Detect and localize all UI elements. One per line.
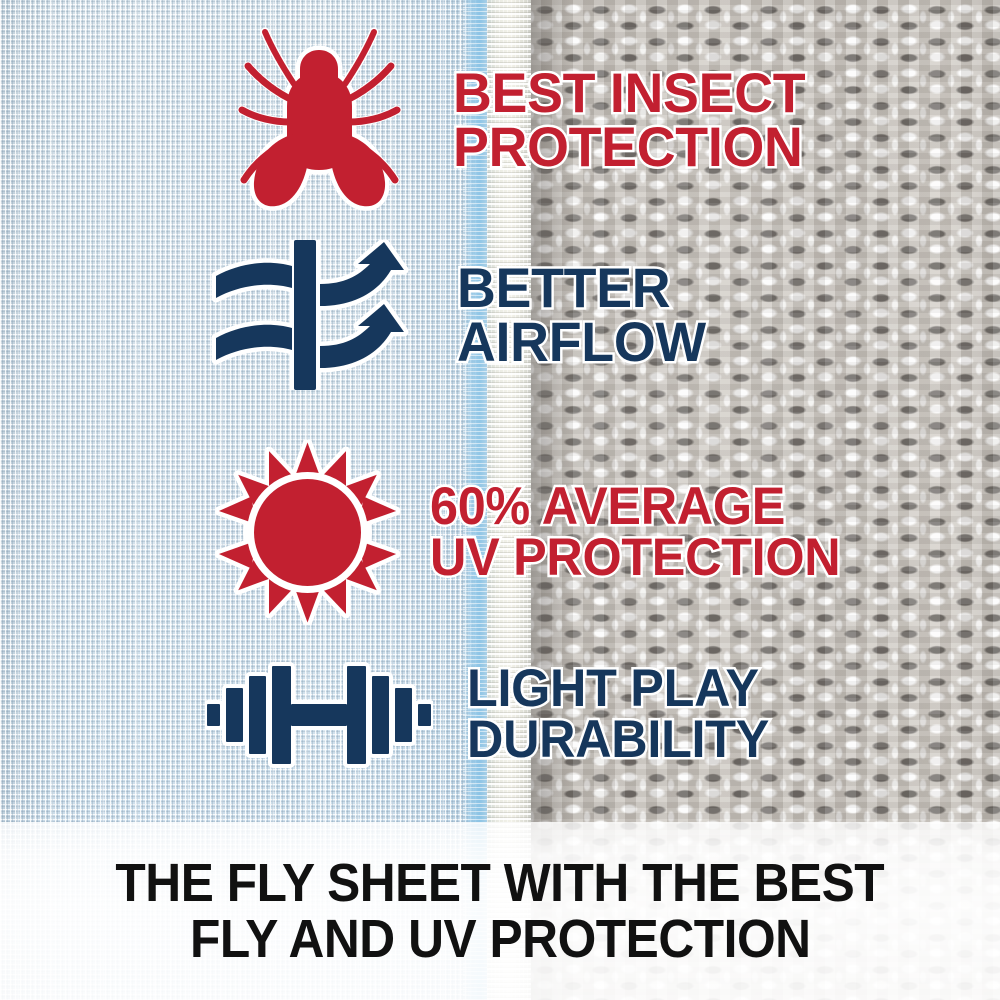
feature-durability: LIGHT PLAY DURABILITY — [205, 660, 785, 770]
banner-line-2: FLY AND UV PROTECTION — [190, 911, 811, 967]
airflow-arrows-icon — [208, 240, 423, 390]
feature-insect-label: BEST INSECT PROTECTION — [453, 66, 805, 174]
dumbbell-icon-wrap — [205, 660, 433, 770]
feature-airflow: BETTER AIRFLOW — [208, 240, 716, 390]
feature-airflow-label: BETTER AIRFLOW — [457, 261, 706, 369]
fly-icon — [232, 22, 407, 217]
product-feature-infographic: BEST INSECT PROTECTION — [0, 0, 1000, 1000]
feature-durability-label: LIGHT PLAY DURABILITY — [467, 664, 769, 766]
banner-line-1: THE FLY SHEET WITH THE BEST — [116, 855, 885, 911]
sun-icon-wrap — [215, 440, 400, 625]
sun-icon — [215, 440, 400, 625]
feature-uv: 60% AVERAGE UV PROTECTION — [215, 440, 862, 625]
bottom-banner: THE FLY SHEET WITH THE BEST FLY AND UV P… — [0, 822, 1000, 1000]
feature-uv-label: 60% AVERAGE UV PROTECTION — [430, 482, 840, 584]
dumbbell-icon — [205, 660, 433, 770]
airflow-arrows-icon-wrap — [208, 240, 423, 390]
feature-insect: BEST INSECT PROTECTION — [232, 22, 820, 217]
fly-icon-wrap — [232, 22, 407, 217]
